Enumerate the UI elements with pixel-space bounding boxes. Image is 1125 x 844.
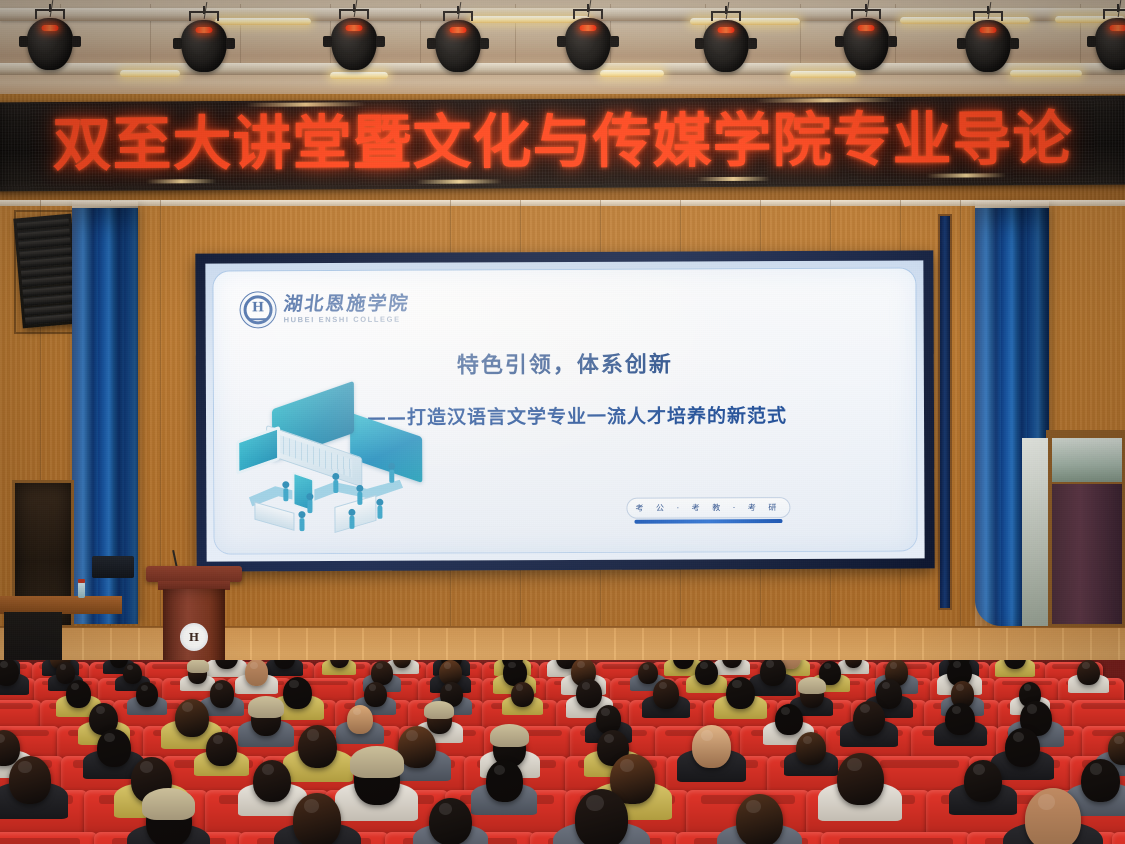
hair-highlight (973, 764, 985, 775)
hair-highlight (1114, 736, 1124, 745)
seat-back-gap (839, 838, 953, 844)
seated-audience (0, 660, 1125, 844)
podium-top (146, 566, 242, 582)
hair-highlight (732, 680, 741, 688)
audience-member-head (210, 680, 235, 707)
hair-highlight (1013, 732, 1024, 742)
audience-member-head (253, 760, 291, 803)
audience-member-head (775, 704, 803, 735)
hair-highlight (601, 708, 609, 716)
illustration-tablet (236, 426, 280, 475)
stage-spotlight (562, 16, 614, 74)
hair-highlight (140, 761, 153, 773)
audience-member-head (876, 679, 903, 709)
spotlight-arm (748, 38, 757, 49)
audience-member-head (726, 677, 755, 710)
illustration-person-figure (356, 485, 363, 505)
stage-spotlight (700, 18, 752, 76)
line-array-speaker (13, 214, 80, 329)
spotlight-indicator-light (1110, 25, 1125, 31)
audience-member-head (575, 789, 629, 844)
hair-highlight (445, 684, 452, 691)
hair-highlight (262, 764, 274, 775)
presentation-slide: H 湖北恩施学院 HUBEI ENSHI COLLEGE 特色引领，体系创新 —… (213, 268, 916, 553)
audience-member-head (175, 699, 209, 737)
illustration-person-figure (306, 493, 313, 513)
stage-spotlight (328, 16, 380, 74)
hair-highlight (215, 683, 223, 690)
hair-highlight (882, 682, 891, 690)
slide-accent-bar (634, 519, 782, 524)
logo-text-block: 湖北恩施学院 HUBEI ENSHI COLLEGE (283, 294, 409, 326)
illustration-person-figure (332, 473, 339, 493)
spotlight-arm (427, 38, 436, 49)
banner-glint (926, 173, 1006, 177)
spotlight-indicator-light (450, 27, 467, 33)
hair-highlight (439, 803, 452, 815)
audience-member-head (736, 794, 783, 844)
wall-top-trim (0, 200, 1125, 206)
hair-highlight (1082, 662, 1089, 669)
stage-spotlight (840, 16, 892, 74)
hair-highlight (746, 800, 761, 814)
wall-panel-seam (960, 200, 961, 630)
hair-highlight (1024, 684, 1031, 691)
laptop-on-stage (92, 556, 134, 578)
audience-member-head (1077, 660, 1100, 685)
audience-member-cap (490, 724, 529, 747)
hair-highlight (701, 730, 713, 741)
illustration-person-figure (376, 499, 383, 519)
hair-highlight (71, 683, 79, 690)
hair-highlight (643, 664, 649, 670)
audience-member-head (760, 660, 786, 686)
hair-highlight (508, 662, 516, 669)
hair-highlight (96, 706, 105, 714)
banner-glint (146, 179, 216, 183)
spotlight-indicator-light (980, 27, 997, 33)
audience-member-head (347, 705, 373, 735)
hair-highlight (307, 729, 319, 740)
spotlight-arm (376, 36, 385, 47)
hair-highlight (376, 663, 383, 669)
hair-highlight (141, 685, 148, 691)
hair-highlight (700, 662, 707, 669)
spotlight-indicator-light (42, 25, 59, 31)
slide-tag-text: 考 公 · 考 教 · 考 研 (635, 502, 781, 514)
audience-member-cap (424, 701, 454, 719)
audience-member-head (429, 798, 471, 844)
audience-member-head (511, 682, 534, 708)
hair-highlight (289, 680, 298, 689)
hair-highlight (582, 682, 590, 690)
seat-back-gap (1081, 703, 1125, 709)
audience-member-head (1025, 788, 1081, 844)
illustration-person-figure (388, 463, 395, 483)
spotlight-indicator-light (718, 27, 735, 33)
audience-member-cap (798, 677, 826, 694)
audience-member-head (576, 679, 602, 708)
spotlight-arm (226, 38, 235, 49)
banner-glint (416, 179, 502, 184)
stage-spotlight (178, 18, 230, 76)
screen-surface: H 湖北恩施学院 HUBEI ENSHI COLLEGE 特色引领，体系创新 —… (205, 260, 924, 561)
hair-highlight (18, 761, 32, 773)
stage-spotlight (962, 18, 1014, 76)
audience-member-head (695, 660, 718, 685)
hair-highlight (860, 704, 870, 713)
spotlight-arm (480, 38, 489, 49)
hair-highlight (60, 664, 66, 670)
spotlight-arm (835, 36, 844, 47)
spotlight-arm (557, 36, 566, 47)
exit-door-window (1052, 438, 1122, 482)
audience-member-head (486, 760, 523, 801)
spotlight-indicator-light (580, 25, 597, 31)
wall-panel-dark-strip (938, 214, 952, 610)
spotlight-arm (1010, 38, 1019, 49)
stage-spotlight (432, 18, 484, 76)
water-bottle (78, 582, 85, 598)
hair-highlight (953, 661, 961, 668)
hair-highlight (952, 706, 961, 715)
audience-member-head (123, 663, 142, 685)
logo-name-en: HUBEI ENSHI COLLEGE (284, 315, 410, 326)
slide-title: 特色引领，体系创新 (214, 350, 916, 381)
audience-member-head (364, 682, 387, 708)
audience-member-head (66, 680, 91, 708)
hair-highlight (781, 707, 790, 715)
exit-door[interactable] (1052, 484, 1122, 624)
hair-highlight (890, 662, 898, 669)
hair-highlight (369, 684, 376, 691)
hair-highlight (182, 702, 193, 712)
hair-highlight (104, 733, 115, 743)
audience-member-head (945, 703, 974, 736)
audience-member-head (206, 732, 236, 766)
hair-highlight (0, 734, 5, 743)
hair-highlight (406, 730, 418, 741)
led-scrolling-banner: 双至大讲堂暨文化与传媒学院专业导论 (0, 96, 1125, 192)
audience-member-cap (187, 660, 209, 673)
audience-member-head (97, 729, 131, 767)
ceiling-strip-light (120, 70, 180, 77)
spotlight-indicator-light (196, 27, 213, 33)
hair-highlight (824, 663, 831, 669)
audience-member-head (837, 753, 884, 805)
spotlight-arm (72, 36, 81, 47)
audience-member-head (964, 760, 1002, 802)
led-banner-text: 双至大讲堂暨文化与传媒学院专业导论 (0, 105, 1125, 180)
seat-back-gap (0, 703, 33, 709)
hair-highlight (620, 759, 634, 772)
hair-highlight (1090, 763, 1102, 774)
auditorium-photo-scene: 双至大讲堂暨文化与传媒学院专业导论 H (0, 0, 1125, 844)
red-auditorium-seat[interactable] (821, 832, 971, 844)
hair-highlight (766, 660, 774, 668)
college-logo: H 湖北恩施学院 HUBEI ENSHI COLLEGE (239, 291, 409, 329)
audience-member-head (1005, 728, 1040, 768)
spotlight-arm (19, 36, 28, 47)
hair-highlight (956, 684, 964, 691)
crest-monogram: H (240, 301, 277, 315)
audience-member-head (293, 793, 342, 844)
audience-member-head (1081, 759, 1120, 802)
isometric-devices-illustration (236, 389, 415, 530)
red-auditorium-seat[interactable] (0, 832, 98, 844)
audience-member-head (692, 725, 730, 768)
audience-member-cap (350, 746, 404, 778)
slide-tag-pill: 考 公 · 考 教 · 考 研 (626, 497, 790, 519)
college-crest-icon: H (239, 291, 276, 328)
stage-spotlight (1092, 16, 1125, 74)
audience-member-cap (248, 696, 284, 718)
projection-screen: H 湖北恩施学院 HUBEI ENSHI COLLEGE 特色引领，体系创新 —… (195, 250, 934, 571)
audience-member-head (638, 662, 658, 684)
hair-highlight (250, 662, 258, 669)
audience-member-head (796, 732, 825, 765)
ceiling-strip-light (1010, 70, 1082, 77)
hair-highlight (586, 795, 603, 811)
hair-highlight (1038, 794, 1056, 810)
audience-member-head (283, 677, 312, 710)
banner-glint (696, 177, 770, 181)
spotlight-arm (610, 36, 619, 47)
hair-highlight (353, 708, 361, 716)
audience-member-cap (142, 788, 195, 820)
spotlight-arm (1087, 36, 1096, 47)
hair-highlight (604, 734, 614, 743)
illustration-book (254, 502, 294, 531)
seat-back-gap (0, 838, 80, 844)
spotlight-indicator-light (858, 25, 875, 31)
spotlight-arm (888, 36, 897, 47)
illustration-person-figure (348, 509, 355, 529)
seat-back-gap (880, 760, 959, 768)
hair-highlight (516, 684, 523, 691)
logo-name-cn: 湖北恩施学院 (282, 294, 411, 316)
spotlight-arm (957, 38, 966, 49)
hair-highlight (304, 799, 320, 813)
ceiling-surface (0, 0, 1125, 96)
spotlight-indicator-light (346, 25, 363, 31)
spotlight-arm (323, 36, 332, 47)
spotlight-arm (173, 38, 182, 49)
exit-window-daylight (1022, 438, 1048, 630)
hair-highlight (213, 735, 223, 744)
banner-glint (246, 102, 366, 107)
audience-member-head (298, 725, 337, 769)
bottle-cap (78, 579, 85, 583)
hair-highlight (803, 736, 812, 745)
hair-highlight (659, 682, 668, 690)
hair-highlight (577, 661, 585, 668)
hair-highlight (0, 661, 8, 668)
podium-emblem: H (180, 623, 208, 651)
hair-highlight (494, 765, 506, 776)
audience-member-head (9, 756, 52, 804)
spotlight-arm (695, 38, 704, 49)
illustration-person-figure (282, 481, 289, 501)
illustration-person-figure (298, 511, 305, 531)
audience-member-head (853, 701, 885, 737)
hair-highlight (444, 662, 451, 669)
audience-member-head (245, 660, 269, 686)
hair-highlight (1027, 704, 1037, 713)
red-auditorium-seat[interactable] (1112, 832, 1125, 844)
audience-member-head (136, 682, 158, 707)
speaker-podium: H (152, 566, 236, 672)
hair-highlight (847, 758, 862, 772)
audience-member-head (653, 679, 680, 709)
hair-highlight (127, 665, 133, 671)
stage-spotlight (24, 16, 76, 74)
banner-glint (756, 98, 896, 103)
